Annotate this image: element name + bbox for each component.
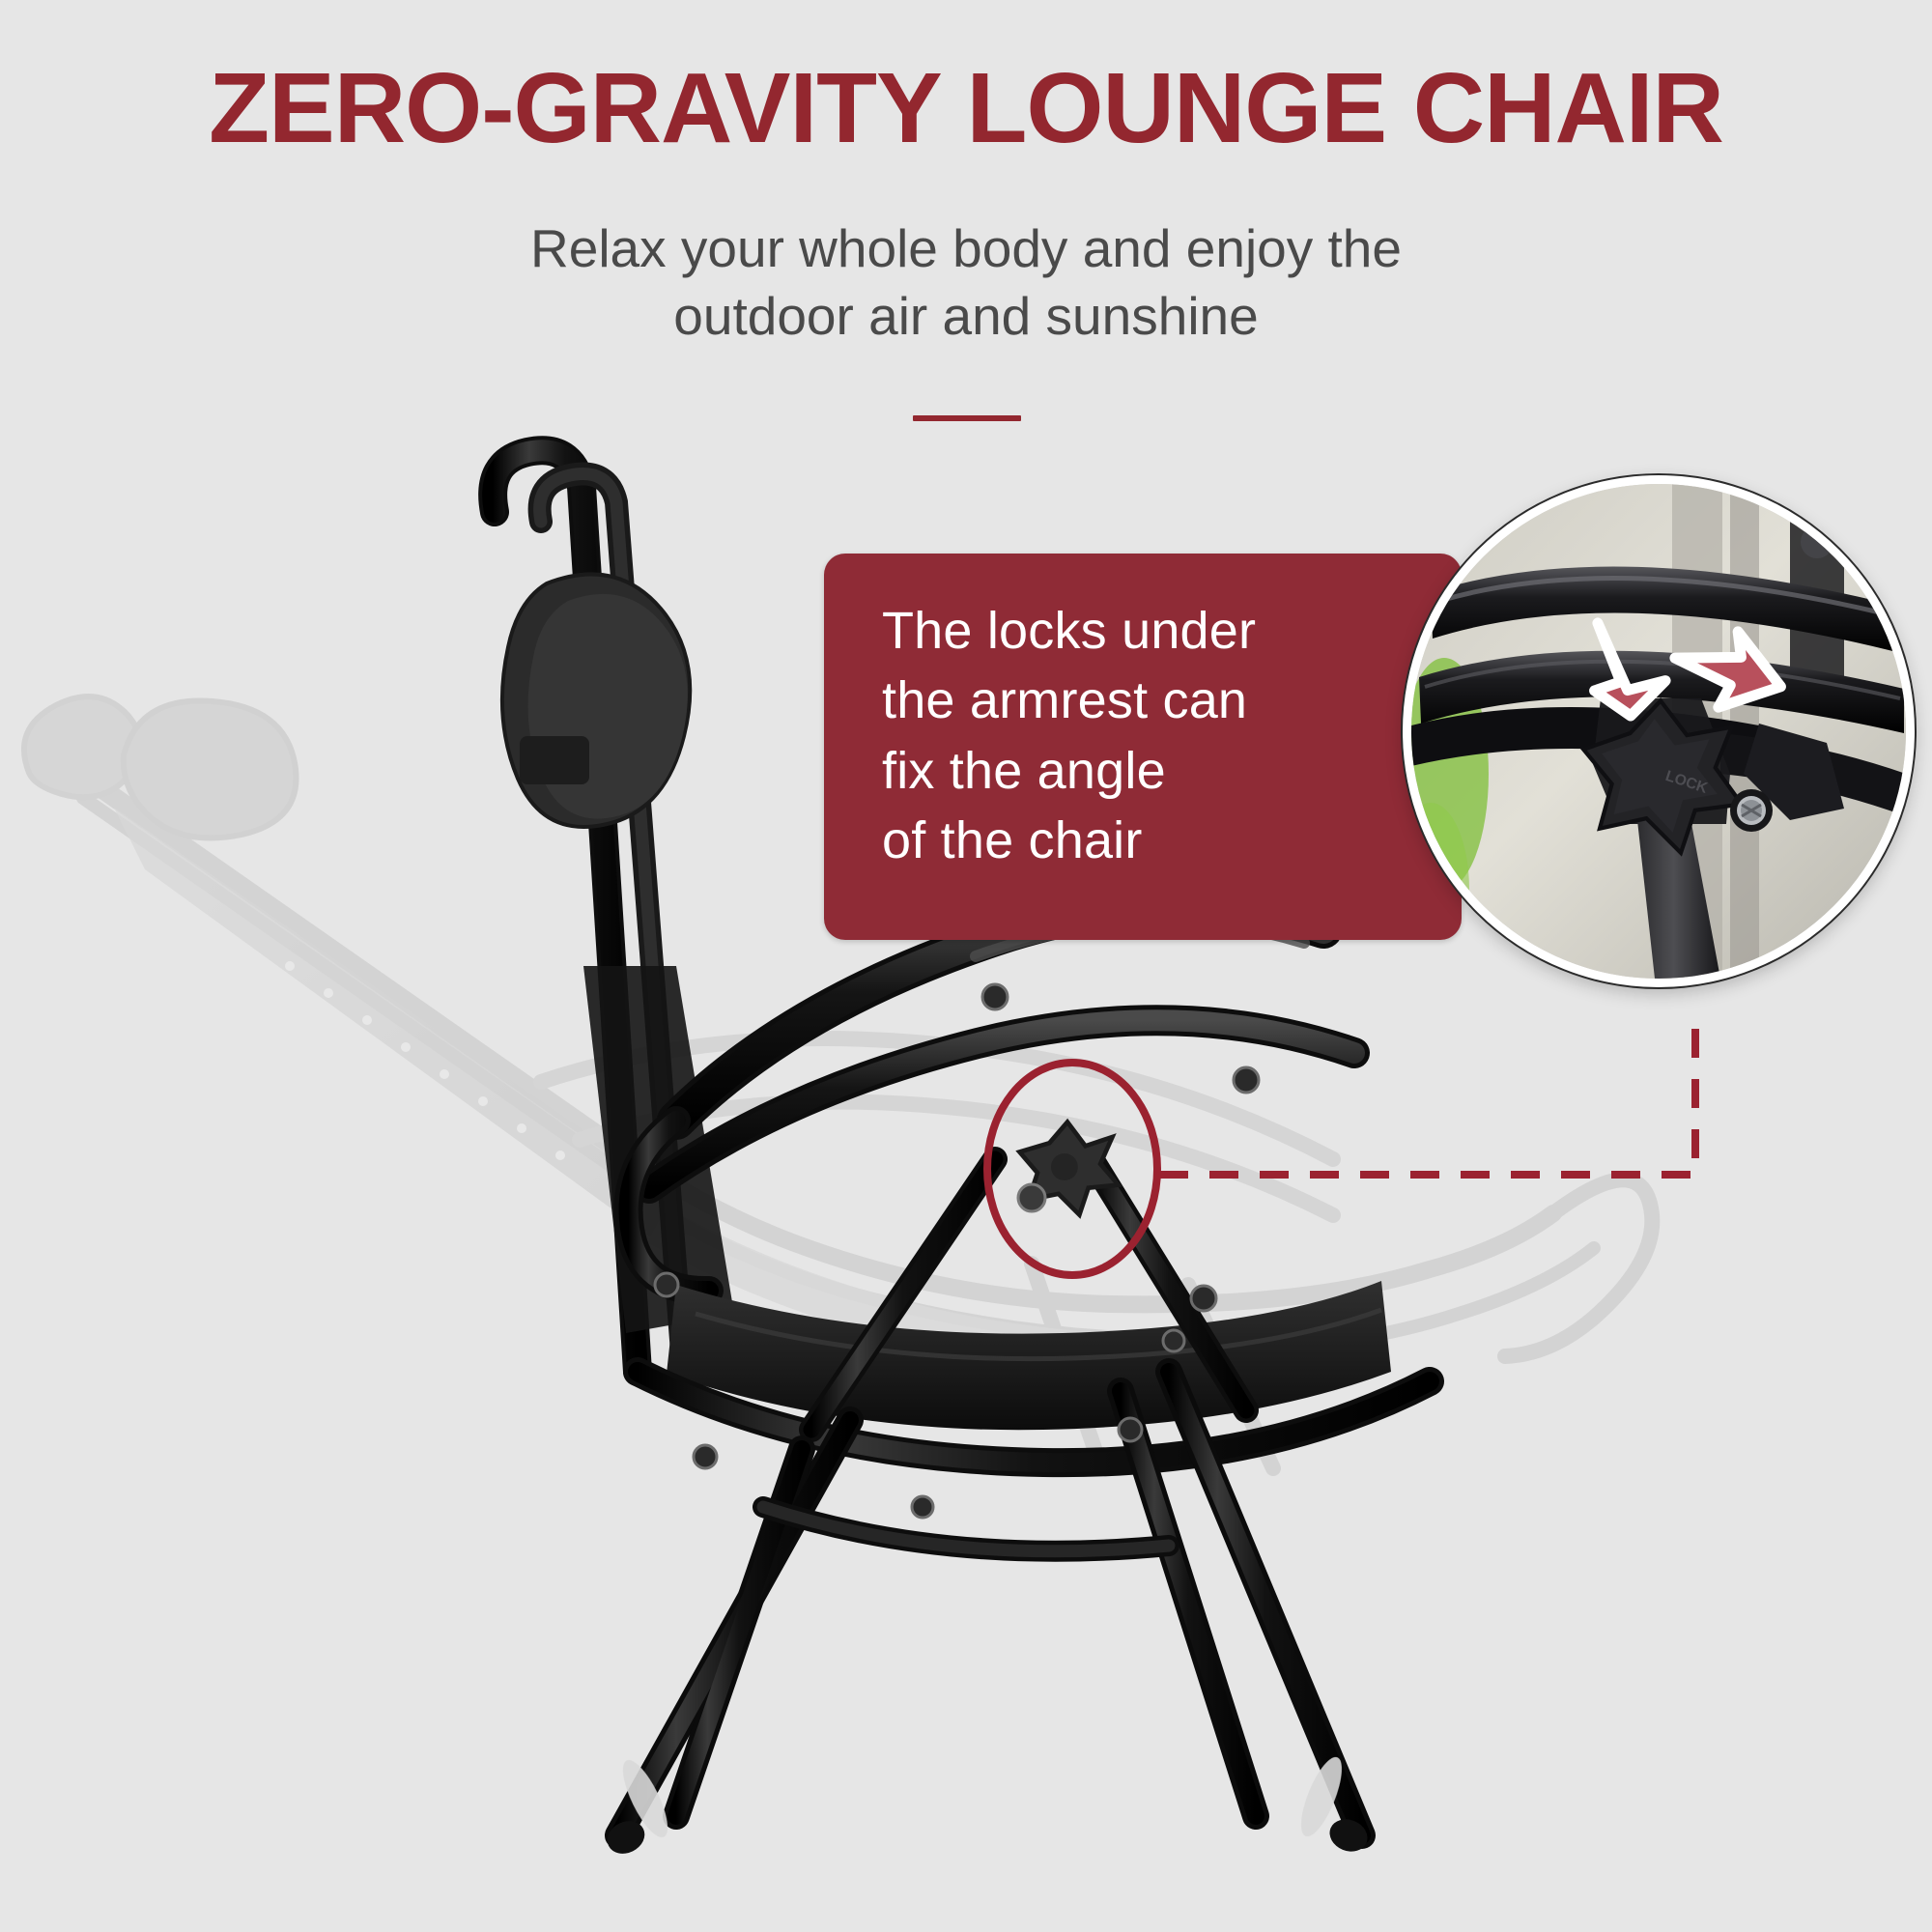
inset-screw [1730,789,1773,832]
dashed-leader-line [1159,1019,1695,1175]
feature-callout-text: The locks under the armrest can fix the … [882,596,1394,875]
callout-line-2: the armrest can [882,666,1394,735]
inset-illustration: LOCK [1411,484,1906,979]
feature-callout-box: The locks under the armrest can fix the … [824,554,1462,940]
callout-line-3: fix the angle [882,736,1394,806]
lock-highlight-ellipse [987,1063,1157,1275]
poster-canvas: ZERO-GRAVITY LOUNGE CHAIR Relax your who… [0,0,1932,1932]
lock-detail-inset-photo: LOCK [1403,475,1915,987]
callout-line-1: The locks under [882,596,1394,666]
callout-line-4: of the chair [882,806,1394,875]
